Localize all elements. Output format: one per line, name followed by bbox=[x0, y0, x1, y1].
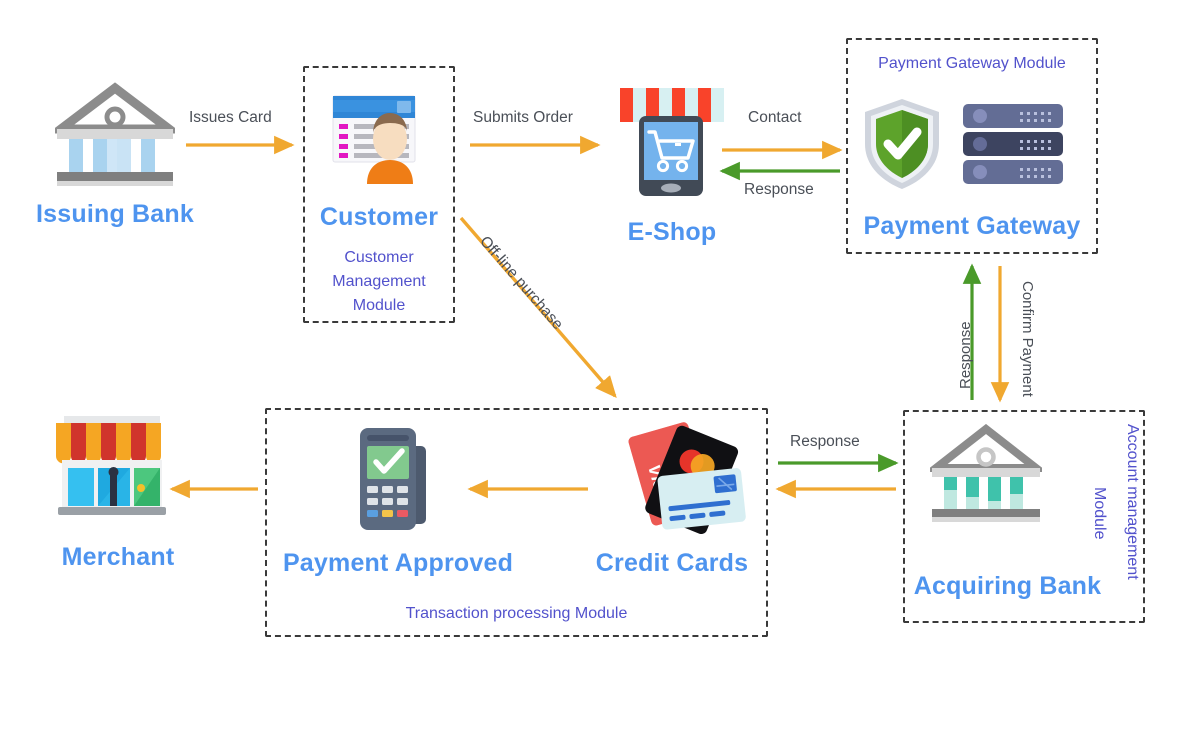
node-title-e-shop: E-Shop bbox=[592, 218, 752, 247]
edge-label-issues-card: Issues Card bbox=[189, 109, 272, 127]
payment-flow-diagram: VISA bbox=[0, 0, 1195, 730]
bank-teal-icon bbox=[930, 424, 1042, 524]
pos-terminal-icon bbox=[352, 424, 438, 534]
mobile-shop-icon bbox=[618, 86, 726, 198]
edge-label-confirm-payment: Confirm Payment bbox=[1019, 281, 1036, 397]
edge-label-submits-order: Submits Order bbox=[473, 109, 573, 127]
module-label-customer-management: Customer Management Module bbox=[303, 246, 455, 318]
edge-label-response-gateway: Response bbox=[744, 181, 814, 199]
node-title-acquiring-bank: Acquiring Bank bbox=[905, 572, 1110, 601]
node-title-merchant: Merchant bbox=[8, 543, 228, 572]
module-label-account-management: Account management bbox=[1123, 424, 1141, 580]
server-rack-icon bbox=[963, 104, 1063, 186]
module-label-line-3: Module bbox=[303, 294, 455, 318]
node-title-credit-cards: Credit Cards bbox=[580, 549, 764, 578]
customer-card-icon bbox=[327, 92, 427, 192]
node-title-payment-gateway: Payment Gateway bbox=[846, 212, 1098, 241]
node-title-customer: Customer bbox=[303, 203, 455, 232]
edge-label-contact: Contact bbox=[748, 109, 801, 127]
node-title-issuing-bank: Issuing Bank bbox=[0, 200, 230, 229]
bank-icon bbox=[55, 82, 175, 187]
module-label-payment-gateway: Payment Gateway Module bbox=[846, 52, 1098, 76]
module-label-account-management-line2: Module bbox=[1090, 487, 1108, 539]
module-label-transaction-processing: Transaction processing Module bbox=[265, 602, 768, 626]
module-label-line-2: Management bbox=[303, 270, 455, 294]
storefront-icon bbox=[48, 408, 176, 520]
module-label-line-1: Customer bbox=[303, 246, 455, 270]
edge-label-response-acquirer: Response bbox=[957, 321, 974, 389]
credit-cards-icon: VISA bbox=[624, 418, 748, 534]
edge-label-response-cards: Response bbox=[790, 433, 860, 451]
node-title-payment-approved: Payment Approved bbox=[278, 549, 518, 578]
shield-check-icon bbox=[860, 96, 944, 192]
